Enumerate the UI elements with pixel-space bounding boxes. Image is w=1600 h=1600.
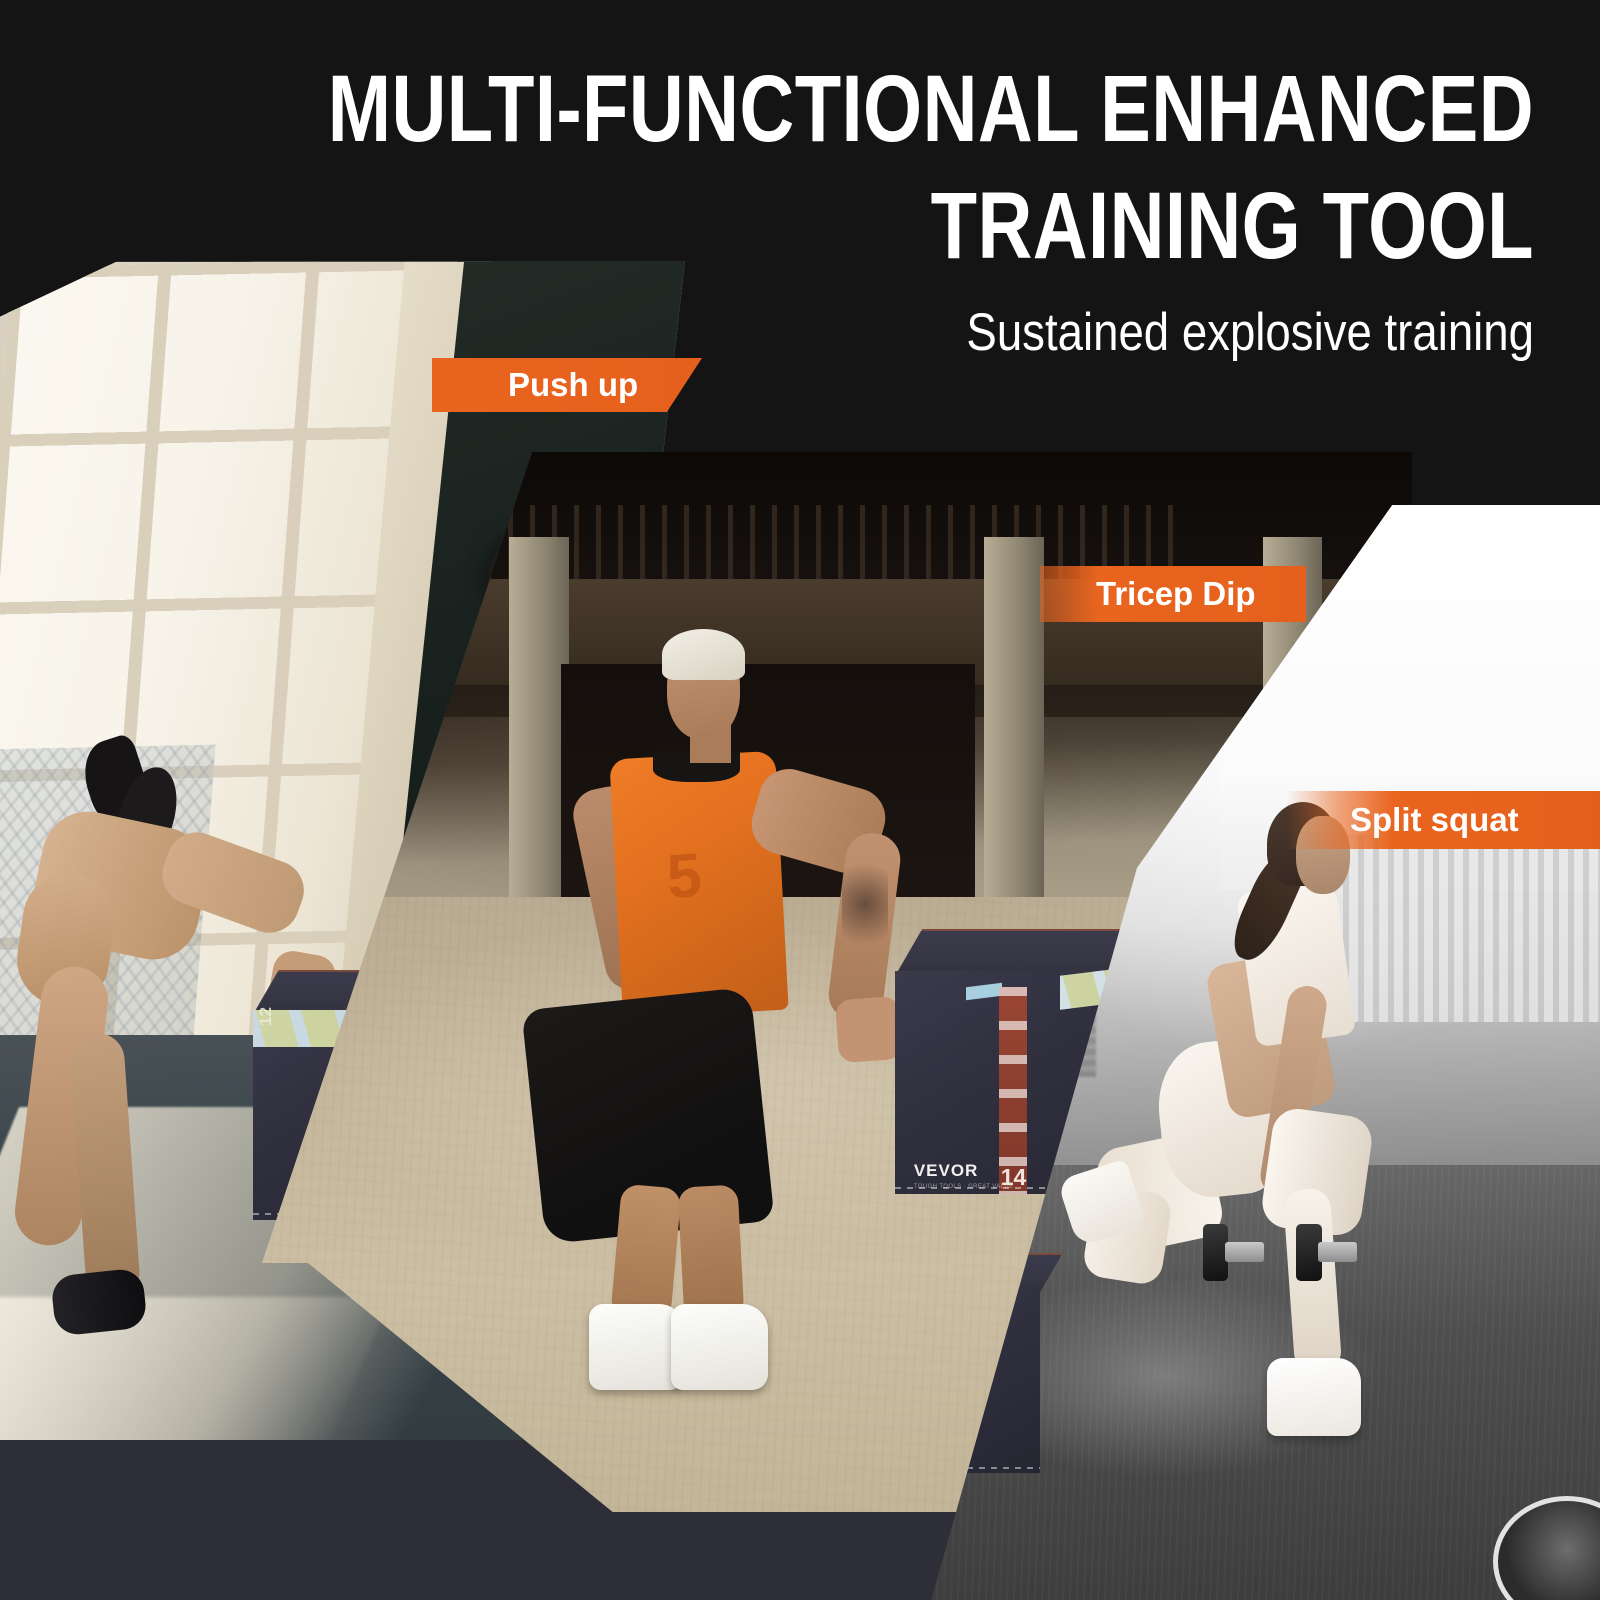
plyo-box-size-label: 12 — [256, 1007, 276, 1026]
athlete-split-squat — [1109, 802, 1468, 1506]
arm-tattoo — [842, 849, 888, 959]
chevron-pattern-icon — [999, 987, 1027, 1194]
plyo-box-red-band — [999, 987, 1027, 1194]
dumbbell-right — [1296, 1224, 1357, 1280]
vevor-logo: VEVOR — [914, 1161, 979, 1181]
badge-push-up-label: Push up — [508, 366, 638, 404]
badge-split-squat[interactable]: Split squat — [1286, 791, 1600, 849]
badge-tricep-dip-label: Tricep Dip — [1096, 575, 1256, 613]
badge-push-up[interactable]: Push up — [432, 358, 702, 412]
sneaker-front — [1267, 1358, 1360, 1435]
page-title-line1: MULTI-FUNCTIONAL ENHANCED — [307, 62, 1534, 157]
badge-tricep-dip[interactable]: Tricep Dip — [1040, 566, 1306, 622]
page-title-line2: TRAINING TOOL — [307, 179, 1534, 274]
badge-split-squat-label: Split squat — [1350, 801, 1519, 839]
dumbbell-left — [1203, 1224, 1264, 1280]
tank-top-number: 5 — [664, 840, 703, 913]
sneaker-right — [671, 1304, 768, 1390]
concrete-column-2 — [984, 537, 1044, 919]
marketing-banner: MULTI-FUNCTIONAL ENHANCED TRAINING TOOL … — [0, 0, 1600, 1600]
